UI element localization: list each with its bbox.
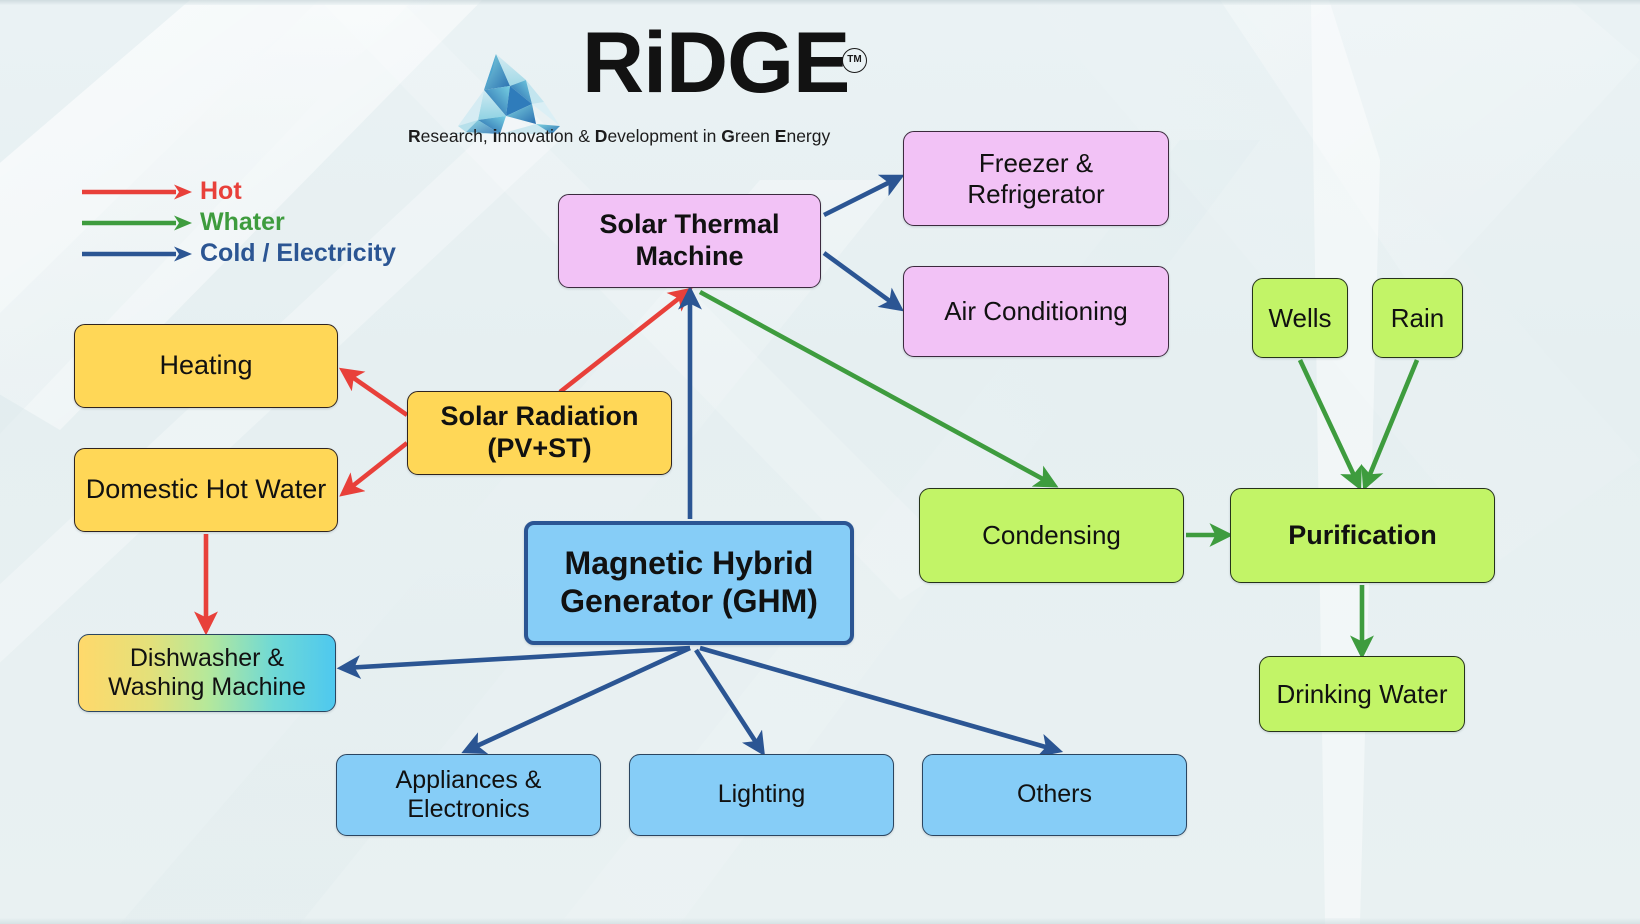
- node-label: Lighting: [718, 780, 806, 810]
- node-label: Freezer &Refrigerator: [967, 148, 1104, 209]
- legend-label: Hot: [200, 176, 242, 207]
- node-label: Drinking Water: [1277, 679, 1448, 710]
- node-freezer-refrigerator[interactable]: Freezer &Refrigerator: [903, 131, 1169, 226]
- node-appliances-electronics[interactable]: Appliances &Electronics: [336, 754, 601, 836]
- node-label: Magnetic HybridGenerator (GHM): [560, 545, 818, 621]
- node-solar-radiation[interactable]: Solar Radiation(PV+ST): [407, 391, 672, 475]
- node-others[interactable]: Others: [922, 754, 1187, 836]
- node-condensing[interactable]: Condensing: [919, 488, 1184, 583]
- node-label: Condensing: [982, 520, 1121, 551]
- node-drinking-water[interactable]: Drinking Water: [1259, 656, 1465, 732]
- bottom-edge-shade: [0, 918, 1640, 924]
- node-label: Air Conditioning: [944, 296, 1128, 327]
- node-label: Purification: [1288, 520, 1437, 552]
- node-label: Solar Radiation(PV+ST): [440, 401, 638, 465]
- node-label: Dishwasher &Washing Machine: [108, 644, 306, 703]
- node-domestic-hot-water[interactable]: Domestic Hot Water: [74, 448, 338, 532]
- legend-arrow-icon: [80, 207, 196, 238]
- ridge-logo: RiDGE TM Research, innovation & Developm…: [406, 22, 866, 150]
- node-wells[interactable]: Wells: [1252, 278, 1348, 358]
- logo-wordmark: RiDGE: [582, 20, 849, 106]
- node-dishwasher-washing-machine[interactable]: Dishwasher &Washing Machine: [78, 634, 336, 712]
- legend-arrow-icon: [80, 238, 196, 269]
- node-label: Heating: [159, 350, 252, 382]
- legend-arrow-icon: [80, 176, 196, 207]
- node-air-conditioning[interactable]: Air Conditioning: [903, 266, 1169, 357]
- node-label: Appliances &Electronics: [396, 766, 542, 825]
- node-rain[interactable]: Rain: [1372, 278, 1463, 358]
- node-label: Domestic Hot Water: [86, 474, 327, 506]
- node-label: Wells: [1268, 303, 1331, 334]
- node-solar-thermal-machine[interactable]: Solar ThermalMachine: [558, 194, 821, 288]
- node-label: Rain: [1391, 303, 1444, 334]
- node-heating[interactable]: Heating: [74, 324, 338, 408]
- top-edge-shade: [0, 0, 1640, 5]
- node-lighting[interactable]: Lighting: [629, 754, 894, 836]
- trademark-icon: TM: [842, 48, 867, 73]
- legend-label: Cold / Electricity: [200, 238, 396, 269]
- node-magnetic-hybrid-generator[interactable]: Magnetic HybridGenerator (GHM): [524, 521, 854, 645]
- legend-label: Whater: [200, 207, 285, 238]
- node-label: Solar ThermalMachine: [599, 209, 779, 273]
- node-purification[interactable]: Purification: [1230, 488, 1495, 583]
- diagram-canvas: RiDGE TM Research, innovation & Developm…: [0, 0, 1640, 924]
- logo-tagline: Research, innovation & Development in Gr…: [408, 126, 830, 147]
- node-label: Others: [1017, 780, 1092, 810]
